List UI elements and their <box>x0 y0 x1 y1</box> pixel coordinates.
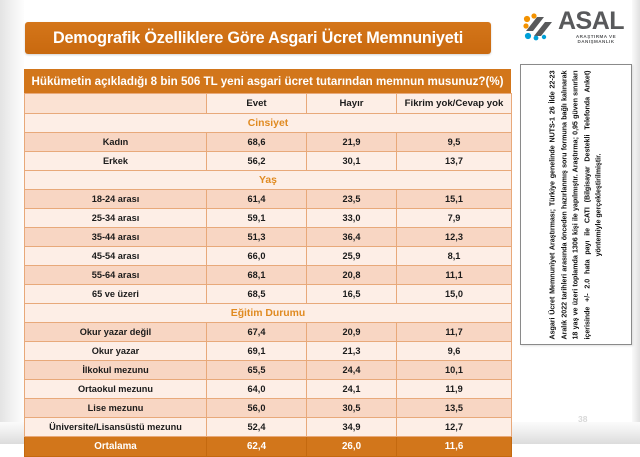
row-value-hayir: 23,5 <box>307 190 397 209</box>
row-value-hayir: 36,4 <box>307 228 397 247</box>
row-value-fikrim: 12,7 <box>397 418 512 437</box>
row-value-hayir: 33,0 <box>307 209 397 228</box>
table-row: 35-44 arası51,336,412,3 <box>25 228 512 247</box>
logo-wordmark: ASAL <box>558 9 634 34</box>
row-value-hayir: 25,9 <box>307 247 397 266</box>
total-value-hayir: 26,0 <box>307 437 397 457</box>
row-value-fikrim: 11,7 <box>397 323 512 342</box>
row-value-evet: 64,0 <box>207 380 307 399</box>
table-row: Okur yazar69,121,39,6 <box>25 342 512 361</box>
table-header-empty <box>25 94 207 114</box>
row-label: Lise mezunu <box>25 399 207 418</box>
row-label: 45-54 arası <box>25 247 207 266</box>
slide-title-banner: Demografik Özelliklere Göre Asgari Ücret… <box>25 22 491 54</box>
row-value-evet: 56,2 <box>207 152 307 171</box>
table-row: 55-64 arası68,120,811,1 <box>25 266 512 285</box>
row-label: 18-24 arası <box>25 190 207 209</box>
row-label: 35-44 arası <box>25 228 207 247</box>
row-label: Üniversite/Lisansüstü mezunu <box>25 418 207 437</box>
table-row: 18-24 arası61,423,515,1 <box>25 190 512 209</box>
row-value-fikrim: 10,1 <box>397 361 512 380</box>
row-label: İlkokul mezunu <box>25 361 207 380</box>
row-value-hayir: 21,9 <box>307 133 397 152</box>
row-value-fikrim: 13,7 <box>397 152 512 171</box>
row-value-evet: 65,5 <box>207 361 307 380</box>
row-value-hayir: 20,9 <box>307 323 397 342</box>
table-row: Erkek56,230,113,7 <box>25 152 512 171</box>
row-label: 25-34 arası <box>25 209 207 228</box>
row-value-evet: 68,6 <box>207 133 307 152</box>
row-value-evet: 51,3 <box>207 228 307 247</box>
table-section-row: Cinsiyet <box>25 114 512 133</box>
row-value-hayir: 30,5 <box>307 399 397 418</box>
row-value-hayir: 16,5 <box>307 285 397 304</box>
table-row: 65 ve üzeri68,516,515,0 <box>25 285 512 304</box>
row-value-evet: 67,4 <box>207 323 307 342</box>
row-value-hayir: 20,8 <box>307 266 397 285</box>
total-label: Ortalama <box>25 437 207 457</box>
row-value-fikrim: 9,5 <box>397 133 512 152</box>
row-label: 55-64 arası <box>25 266 207 285</box>
row-value-fikrim: 13,5 <box>397 399 512 418</box>
table-header-col-1: Hayır <box>307 94 397 114</box>
table-section-row: Yaş <box>25 171 512 190</box>
row-value-hayir: 34,9 <box>307 418 397 437</box>
table-row: 45-54 arası66,025,98,1 <box>25 247 512 266</box>
table-row: Okur yazar değil67,420,911,7 <box>25 323 512 342</box>
table-row: Kadın68,621,99,5 <box>25 133 512 152</box>
row-value-evet: 66,0 <box>207 247 307 266</box>
table-row: Ortaokul mezunu64,024,111,9 <box>25 380 512 399</box>
row-value-fikrim: 9,6 <box>397 342 512 361</box>
table-section-title: Yaş <box>25 171 512 190</box>
row-value-evet: 61,4 <box>207 190 307 209</box>
row-value-evet: 59,1 <box>207 209 307 228</box>
asal-logo-mark-icon <box>522 12 556 42</box>
survey-question-header: Hükümetin açıkladığı 8 bin 506 TL yeni a… <box>24 69 511 93</box>
row-value-fikrim: 8,1 <box>397 247 512 266</box>
row-value-evet: 68,1 <box>207 266 307 285</box>
table-section-row: Eğitim Durumu <box>25 304 512 323</box>
row-value-fikrim: 11,9 <box>397 380 512 399</box>
row-value-hayir: 24,4 <box>307 361 397 380</box>
page-number: 38 <box>578 414 587 424</box>
row-value-fikrim: 7,9 <box>397 209 512 228</box>
table-header-row: EvetHayırFikrim yok/Cevap yok <box>25 94 512 114</box>
row-value-fikrim: 11,1 <box>397 266 512 285</box>
row-value-fikrim: 15,0 <box>397 285 512 304</box>
methodology-note-text: Asgari Ücret Memnuniyet Araştırması; Tür… <box>547 68 605 341</box>
table-section-title: Eğitim Durumu <box>25 304 512 323</box>
table-header-col-0: Evet <box>207 94 307 114</box>
row-value-hayir: 21,3 <box>307 342 397 361</box>
survey-question-text: Hükümetin açıkladığı 8 bin 506 TL yeni a… <box>32 75 504 88</box>
methodology-note-box: Asgari Ücret Memnuniyet Araştırması; Tür… <box>520 64 632 345</box>
row-label: Erkek <box>25 152 207 171</box>
table-section-title: Cinsiyet <box>25 114 512 133</box>
slide-left-edge <box>0 0 24 444</box>
page-title: Demografik Özelliklere Göre Asgari Ücret… <box>53 29 463 48</box>
row-label: Ortaokul mezunu <box>25 380 207 399</box>
table-row: Üniversite/Lisansüstü mezunu52,434,912,7 <box>25 418 512 437</box>
row-value-fikrim: 15,1 <box>397 190 512 209</box>
row-label: Okur yazar <box>25 342 207 361</box>
table-total-row: Ortalama62,426,011,6 <box>25 437 512 457</box>
table-header-col-2: Fikrim yok/Cevap yok <box>397 94 512 114</box>
row-value-hayir: 24,1 <box>307 380 397 399</box>
row-value-evet: 68,5 <box>207 285 307 304</box>
logo-subtitle: ARAŞTIRMA VE DANIŞMANLIK <box>558 35 634 44</box>
total-value-fikrim: 11,6 <box>397 437 512 457</box>
survey-results-table: EvetHayırFikrim yok/Cevap yokCinsiyetKad… <box>24 93 512 457</box>
total-value-evet: 62,4 <box>207 437 307 457</box>
table-row: Lise mezunu56,030,513,5 <box>25 399 512 418</box>
row-value-evet: 52,4 <box>207 418 307 437</box>
table-row: İlkokul mezunu65,524,410,1 <box>25 361 512 380</box>
row-label: 65 ve üzeri <box>25 285 207 304</box>
slide-right-edge <box>632 0 640 444</box>
row-value-evet: 69,1 <box>207 342 307 361</box>
row-value-fikrim: 12,3 <box>397 228 512 247</box>
row-label: Okur yazar değil <box>25 323 207 342</box>
asal-logo: ASAL ARAŞTIRMA VE DANIŞMANLIK <box>522 6 634 48</box>
table-row: 25-34 arası59,133,07,9 <box>25 209 512 228</box>
row-value-evet: 56,0 <box>207 399 307 418</box>
row-label: Kadın <box>25 133 207 152</box>
row-value-hayir: 30,1 <box>307 152 397 171</box>
